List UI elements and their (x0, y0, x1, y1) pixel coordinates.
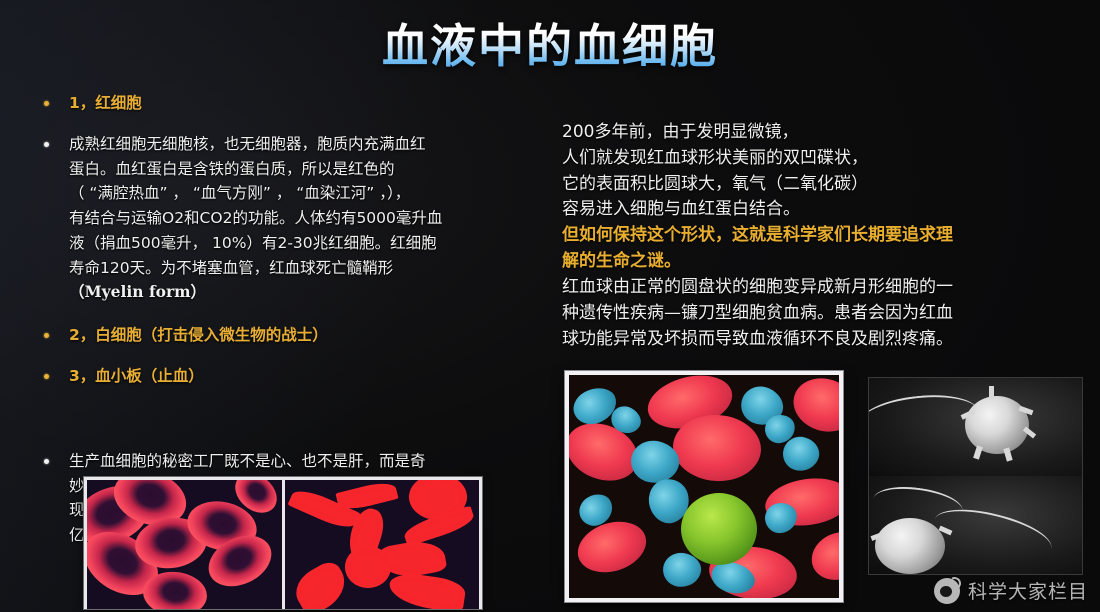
spacer (38, 117, 538, 133)
bullet-dot-icon (44, 374, 49, 379)
text-line: 种遗传性疾病—镰刀型细胞贫血病。患者会因为红血 (562, 301, 1084, 327)
text-line: 人们就发现红血球形状美丽的双凹碟状， (562, 146, 1084, 172)
echinocyte-sem-image (869, 378, 1082, 574)
text-line: 液（捐血500毫升， 10%）有2-30兆红细胞。红细胞 (69, 232, 538, 255)
spacer (38, 390, 538, 420)
text-line-highlight: 解的生命之谜。 (562, 249, 1084, 275)
spacer (38, 349, 538, 365)
right-text-column: 200多年前，由于发明显微镜， 人们就发现红血球形状美丽的双凹碟状， 它的表面积… (562, 120, 1084, 352)
text-line: 它的表面积比圆球大，氧气（二氧化碳） (562, 172, 1084, 198)
heading-red-blood-cell: 1，红细胞 (69, 92, 538, 115)
sickle-comparison-image (84, 477, 482, 609)
image-pane-echinocyte-bottom (869, 476, 1082, 574)
paragraph-rbc-description: 成熟红细胞无细胞核，也无细胞器，胞质内充满血红 蛋白。血红蛋白是含铁的蛋白质，所… (69, 133, 538, 306)
text-line: 容易进入细胞与血红蛋白结合。 (562, 197, 1084, 223)
list-item: 2，白细胞（打击侵入微生物的战士） (38, 324, 538, 347)
text-line-highlight: 但如何保持这个形状，这就是科学家们长期要追求理 (562, 223, 1084, 249)
text-line-myelin-form: （Myelin form） (69, 281, 538, 304)
bullet-dot-icon (44, 101, 49, 106)
image-pane-sickle-rbc (285, 480, 480, 609)
image-pane-echinocyte-top (869, 378, 1082, 476)
text-line: （ “满腔热血” ， “血气方刚” ， “血染江河” ，）， (69, 182, 538, 205)
list-item: 成熟红细胞无细胞核，也无细胞器，胞质内充满血红 蛋白。血红蛋白是含铁的蛋白质，所… (38, 133, 538, 306)
list-item: 1，红细胞 (38, 92, 538, 115)
spacer (38, 308, 538, 324)
blood-cells-sem-image (565, 371, 843, 602)
image-pane-normal-rbc (87, 480, 282, 609)
text-line: 有结合与运输O2和CO2的功能。人体约有5000毫升血 (69, 207, 538, 230)
text-line: 寿命120天。为不堵塞血管，红血球死亡髓鞘形 (69, 257, 538, 280)
spacer (38, 420, 538, 450)
text-line: 蛋白。血红蛋白是含铁的蛋白质，所以是红色的 (69, 158, 538, 181)
text-line: 成熟红细胞无细胞核，也无细胞器，胞质内充满血红 (69, 133, 538, 156)
watermark: 科学大家栏目 (934, 577, 1088, 604)
list-item: 3，血小板（止血） (38, 365, 538, 388)
bullet-dot-icon (44, 333, 49, 338)
bullet-dot-icon (44, 142, 49, 147)
text-line: 球功能异常及坏损而导致血液循环不良及剧烈疼痛。 (562, 327, 1084, 353)
weibo-icon (934, 578, 960, 604)
bullet-dot-icon (44, 459, 49, 464)
presentation-slide: 血液中的血细胞 血液中的血细胞 1，红细胞 成熟红细胞无细胞核，也无细胞器，胞质… (0, 0, 1100, 612)
text-line: 红血球由正常的圆盘状的细胞变异成新月形细胞的一 (562, 275, 1084, 301)
page-title: 血液中的血细胞 (0, 22, 1100, 70)
text-line: 200多年前，由于发明显微镜， (562, 120, 1084, 146)
text-line: 生产血细胞的秘密工厂既不是心、也不是肝，而是奇 (69, 450, 538, 473)
watermark-label: 科学大家栏目 (968, 577, 1088, 604)
heading-platelet: 3，血小板（止血） (69, 365, 538, 388)
heading-white-blood-cell: 2，白细胞（打击侵入微生物的战士） (69, 324, 538, 347)
